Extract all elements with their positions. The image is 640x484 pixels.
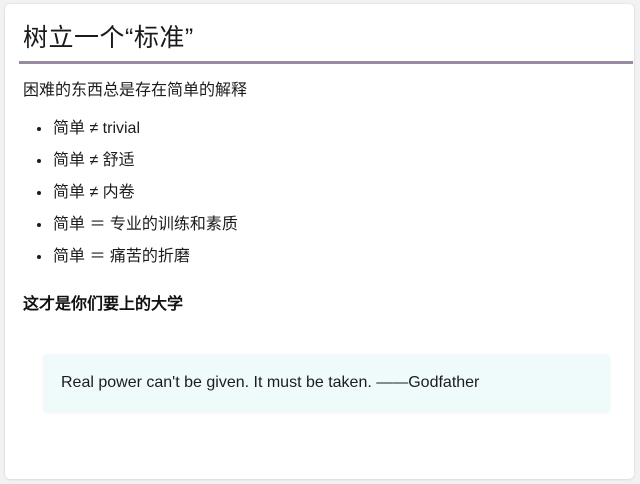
list-item-label: 简单 ≠ 舒适 xyxy=(53,152,135,169)
list-item: 简单 ＝ 痛苦的折磨 xyxy=(23,241,238,273)
list-item: 简单 ≠ trivial xyxy=(23,113,238,145)
bullet-list: 简单 ≠ trivial 简单 ≠ 舒适 简单 ≠ 内卷 简单 ＝ 专业的训练和… xyxy=(23,113,238,273)
quote-callout: Real power can't be given. It must be ta… xyxy=(43,354,610,412)
list-item: 简单 ≠ 舒适 xyxy=(23,145,238,177)
lead-paragraph: 困难的东西总是存在简单的解释 xyxy=(23,78,247,104)
list-item: 简单 ≠ 内卷 xyxy=(23,177,238,209)
list-item-label: 简单 ＝ 专业的训练和素质 xyxy=(53,216,238,233)
bullet-dot-icon xyxy=(37,159,41,163)
bullet-dot-icon xyxy=(37,223,41,227)
slide-card: 树立一个“标准” 困难的东西总是存在简单的解释 简单 ≠ trivial 简单 … xyxy=(5,4,634,479)
page-title: 树立一个“标准” xyxy=(23,20,194,56)
emphasis-line: 这才是你们要上的大学 xyxy=(23,292,183,318)
quote-text: Real power can't be given. It must be ta… xyxy=(61,354,479,412)
slide-content: 树立一个“标准” 困难的东西总是存在简单的解释 简单 ≠ trivial 简单 … xyxy=(5,4,634,479)
title-divider xyxy=(19,61,633,64)
list-item-label: 简单 ≠ 内卷 xyxy=(53,184,135,201)
bullet-dot-icon xyxy=(37,127,41,131)
list-item-label: 简单 ＝ 痛苦的折磨 xyxy=(53,248,190,265)
bullet-dot-icon xyxy=(37,255,41,259)
bullet-dot-icon xyxy=(37,191,41,195)
list-item-label: 简单 ≠ trivial xyxy=(53,120,140,137)
list-item: 简单 ＝ 专业的训练和素质 xyxy=(23,209,238,241)
